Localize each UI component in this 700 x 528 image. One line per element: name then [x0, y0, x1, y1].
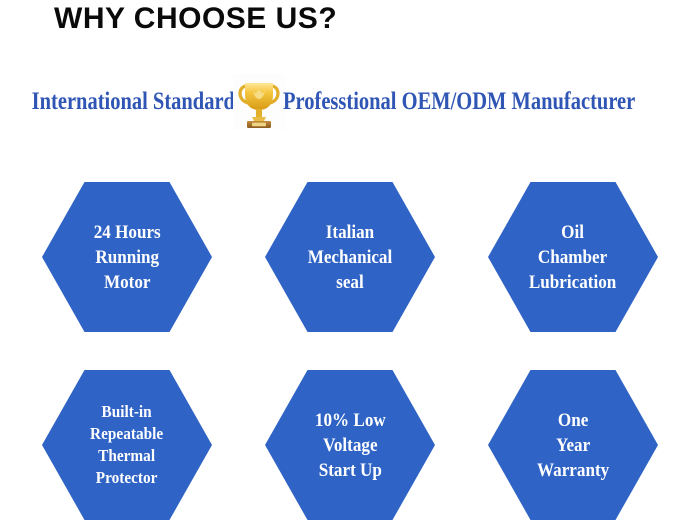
- feature-line: 10% Low: [315, 408, 386, 433]
- feature-label: One Year Warranty: [537, 408, 609, 483]
- feature-line: One: [537, 408, 609, 433]
- feature-line: Protector: [90, 467, 163, 489]
- feature-line: Chamber: [529, 245, 616, 270]
- feature-label: Italian Mechanical seal: [308, 220, 393, 295]
- feature-hex-one-year-warranty[interactable]: One Year Warranty: [488, 370, 658, 520]
- feature-line: Year: [537, 433, 609, 458]
- feature-hex-10-percent-low-voltage-start-up[interactable]: 10% Low Voltage Start Up: [265, 370, 435, 520]
- feature-hex-built-in-repeatable-thermal-protector[interactable]: Built-in Repeatable Thermal Protector: [42, 370, 212, 520]
- features-hex-grid: 24 Hours Running Motor Italian Mechanica…: [0, 0, 700, 528]
- feature-line: seal: [308, 270, 393, 295]
- feature-line: Italian: [308, 220, 393, 245]
- feature-line: Mechanical: [308, 245, 393, 270]
- feature-line: Warranty: [537, 458, 609, 483]
- feature-line: Running: [94, 245, 161, 270]
- feature-line: Built-in: [90, 401, 163, 423]
- feature-line: 24 Hours: [94, 220, 161, 245]
- feature-line: Repeatable: [90, 423, 163, 445]
- feature-hex-24-hours-running-motor[interactable]: 24 Hours Running Motor: [42, 182, 212, 332]
- feature-line: Motor: [94, 270, 161, 295]
- feature-label: 24 Hours Running Motor: [94, 220, 161, 295]
- feature-label: 10% Low Voltage Start Up: [315, 408, 386, 483]
- feature-label: Built-in Repeatable Thermal Protector: [90, 401, 163, 489]
- feature-label: Oil Chamber Lubrication: [529, 220, 616, 295]
- feature-hex-oil-chamber-lubrication[interactable]: Oil Chamber Lubrication: [488, 182, 658, 332]
- why-choose-us-banner: WHY CHOOSE US? International Standard: [0, 0, 700, 528]
- feature-line: Lubrication: [529, 270, 616, 295]
- feature-line: Start Up: [315, 458, 386, 483]
- feature-line: Oil: [529, 220, 616, 245]
- feature-hex-italian-mechanical-seal[interactable]: Italian Mechanical seal: [265, 182, 435, 332]
- feature-line: Thermal: [90, 445, 163, 467]
- feature-line: Voltage: [315, 433, 386, 458]
